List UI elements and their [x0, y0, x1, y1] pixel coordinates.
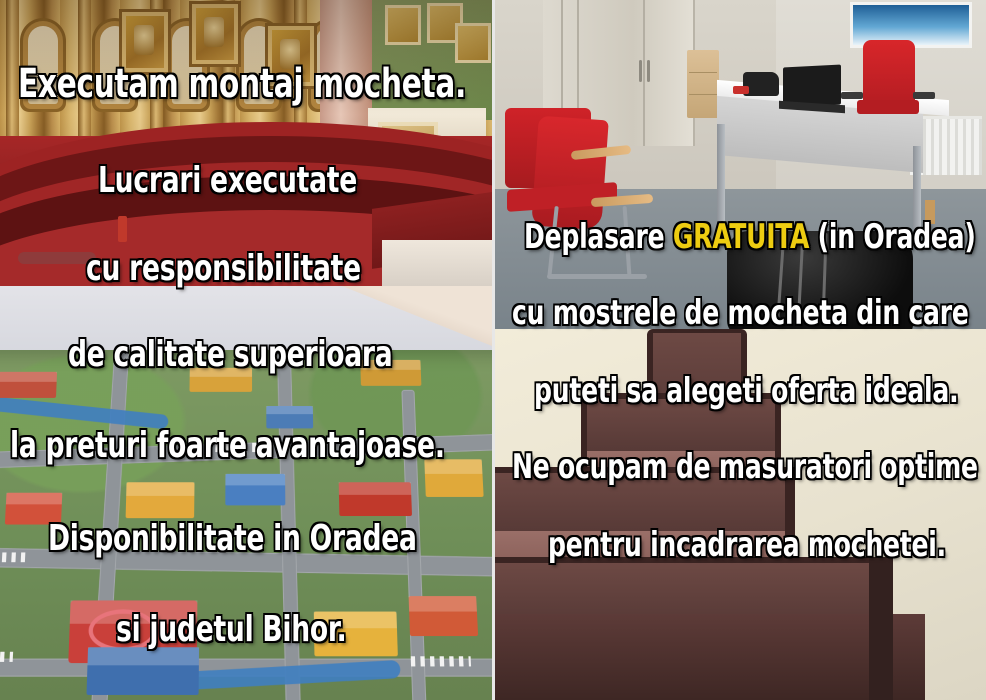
panel-office-room — [495, 0, 986, 329]
church-scene — [0, 0, 492, 286]
rug-road — [277, 350, 302, 700]
stair-riser — [587, 399, 775, 453]
playmat-scene — [0, 286, 492, 700]
red-office-chair-back — [863, 40, 915, 106]
panel-divider — [492, 0, 495, 700]
panel-kids-playmat-rug — [0, 286, 492, 700]
rug-building — [361, 360, 422, 386]
cupboard-handle[interactable] — [639, 60, 642, 82]
rug-building — [190, 368, 253, 392]
rug-building — [226, 474, 286, 506]
chair-armrest — [913, 92, 935, 99]
rug-crosswalk — [216, 443, 273, 452]
rug-building — [87, 647, 200, 695]
red-canister — [118, 216, 127, 242]
rug-crosswalk — [0, 552, 27, 562]
bag-strap — [776, 239, 785, 325]
wooden-post — [925, 200, 935, 224]
stair-riser — [495, 473, 785, 535]
chair-armrest — [841, 92, 863, 99]
rug-crosswalk — [0, 652, 13, 662]
wall-corner — [342, 286, 492, 346]
bag-strap — [821, 233, 827, 325]
rug-crosswalk — [411, 656, 471, 666]
rug-building — [339, 482, 412, 516]
rug-building — [0, 372, 57, 398]
stair-side-edge — [869, 557, 893, 700]
stair-bottom-shadow — [495, 614, 925, 700]
collage-canvas: Executam montaj mocheta. Lucrari executa… — [0, 0, 986, 700]
chair-chrome-base — [547, 274, 647, 279]
rug-building — [425, 459, 484, 497]
drawer-line — [689, 94, 717, 95]
rug-building — [126, 482, 195, 518]
desk-leg — [913, 146, 921, 230]
desk-phone — [743, 72, 779, 96]
office-scene — [495, 0, 986, 329]
red-coat-on-chair — [531, 116, 609, 231]
panel-carpeted-stairs — [495, 329, 986, 700]
rug-building — [314, 612, 398, 657]
bag-strap — [797, 235, 805, 325]
cupboard-seam — [643, 0, 645, 146]
wooden-drawer-unit — [687, 50, 719, 118]
rug-building — [267, 406, 314, 428]
panel-church-iconostasis — [0, 0, 492, 286]
desk-leg — [717, 124, 725, 222]
drawer-line — [689, 72, 717, 73]
red-office-chair-seat — [857, 100, 919, 114]
cupboard-handle[interactable] — [647, 60, 650, 82]
stone-floor — [382, 240, 492, 286]
rolled-carpet — [18, 252, 96, 264]
rug-building — [5, 493, 62, 525]
town-playmat-rug — [0, 350, 492, 700]
rug-river — [0, 393, 169, 429]
black-sample-bag — [727, 231, 913, 329]
stairs-scene — [495, 329, 986, 700]
rug-building — [409, 596, 479, 636]
